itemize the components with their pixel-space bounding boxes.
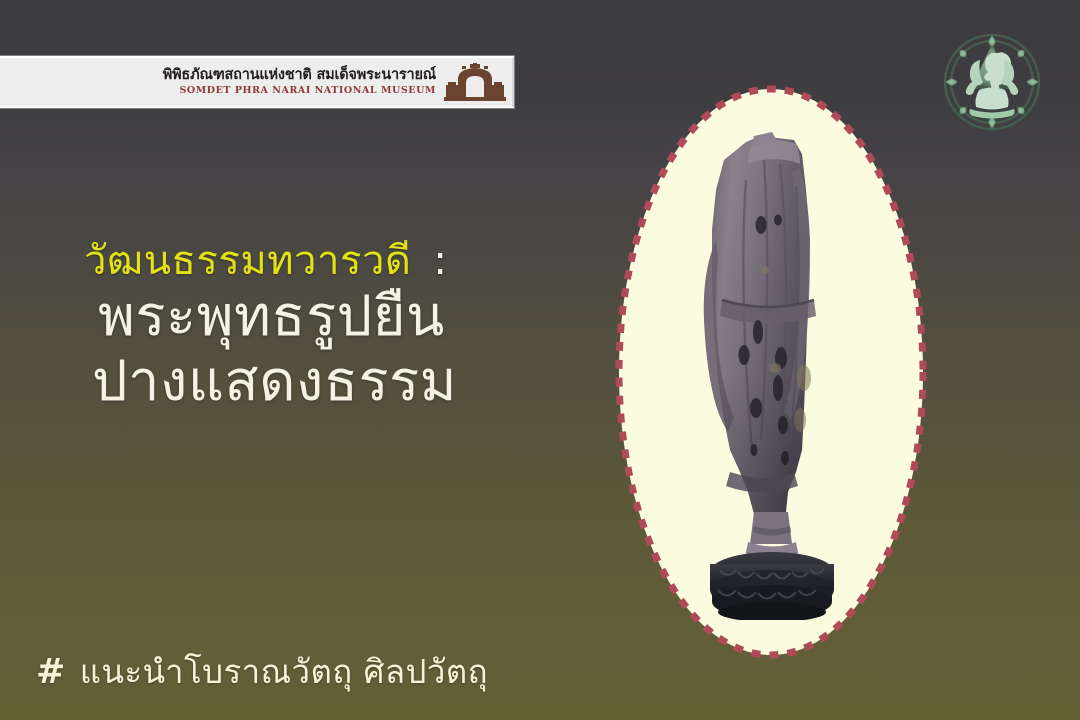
- hash-symbol: #: [36, 652, 66, 692]
- museum-name-thai: พิพิธภัณฑสถานแห่งชาติ สมเด็จพระนารายณ์: [163, 68, 436, 83]
- headline-line-1: พระพุทธรูปยืน: [0, 285, 600, 350]
- headline-line-2: ปางแสดงธรรม: [0, 350, 600, 415]
- ganesha-emblem: [937, 27, 1047, 137]
- headline-eyebrow: วัฒนธรรมทวารวดี: [84, 238, 411, 284]
- headline-block: วัฒนธรรมทวารวดี: พระพุทธรูปยืน ปางแสดงธร…: [0, 238, 600, 415]
- museum-name-block: พิพิธภัณฑสถานแห่งชาติ สมเด็จพระนารายณ์ S…: [163, 68, 436, 96]
- hashtag-label: แนะนำโบราณวัตถุ ศิลปวัตถุ: [80, 645, 488, 698]
- museum-banner-content: พิพิธภัณฑสถานแห่งชาติ สมเด็จพระนารายณ์ S…: [163, 63, 506, 101]
- headline-colon: :: [411, 238, 447, 284]
- headline-eyebrow-row: วัฒนธรรมทวารวดี:: [0, 238, 600, 285]
- museum-name-english: SOMDET PHRA NARAI NATIONAL MUSEUM: [163, 86, 436, 96]
- hashtag-footer: # แนะนำโบราณวัตถุ ศิลปวัตถุ: [36, 645, 488, 698]
- museum-banner: พิพิธภัณฑสถานแห่งชาติ สมเด็จพระนารายณ์ S…: [0, 56, 514, 108]
- poster-canvas: พิพิธภัณฑสถานแห่งชาติ สมเด็จพระนารายณ์ S…: [0, 0, 1080, 720]
- standing-buddha-statue: [668, 120, 873, 620]
- museum-gate-icon: [444, 63, 506, 101]
- artefact-oval-frame: [612, 82, 930, 662]
